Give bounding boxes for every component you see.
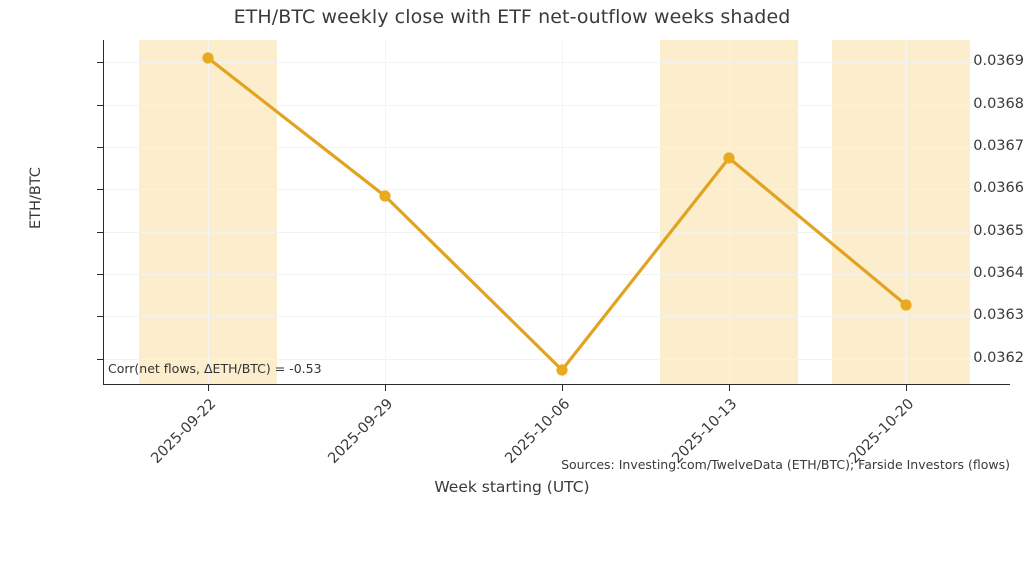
x-axis-tick [208, 385, 209, 391]
x-axis-tick [729, 385, 730, 391]
data-point-marker [556, 364, 567, 375]
y-axis-tick [97, 232, 103, 233]
x-axis-tick [906, 385, 907, 391]
correlation-annotation: Corr(net flows, ΔETH/BTC) = -0.53 [108, 361, 322, 376]
source-note: Sources: Investing.com/TwelveData (ETH/B… [0, 457, 1010, 472]
chart-title: ETH/BTC weekly close with ETF net-outflo… [0, 6, 1024, 28]
y-axis-spine [103, 40, 104, 385]
y-axis-tick-label: 0.0365 [932, 223, 1024, 239]
plot-area [103, 40, 1010, 384]
chart-figure: ETH/BTC weekly close with ETF net-outflo… [0, 0, 1024, 507]
y-axis-tick [97, 316, 103, 317]
y-axis-tick [97, 62, 103, 63]
data-point-marker [202, 52, 213, 63]
y-axis-tick [97, 189, 103, 190]
x-axis-tick [562, 385, 563, 391]
y-axis-tick-label: 0.0363 [932, 307, 1024, 323]
y-axis-tick-label: 0.0364 [932, 265, 1024, 281]
series-line-eth-btc [208, 58, 906, 370]
series-layer [103, 40, 1010, 384]
y-axis-tick [97, 147, 103, 148]
x-axis-tick [385, 385, 386, 391]
y-axis-tick-label: 0.0362 [932, 350, 1024, 366]
y-axis-tick-label: 0.0368 [932, 96, 1024, 112]
x-axis-title: Week starting (UTC) [0, 478, 1024, 496]
y-axis-tick-label: 0.0366 [932, 180, 1024, 196]
data-point-marker [379, 190, 390, 201]
data-point-marker [900, 299, 911, 310]
x-axis-spine [103, 384, 1010, 385]
y-axis-tick [97, 359, 103, 360]
data-point-marker [723, 152, 734, 163]
y-axis-tick [97, 274, 103, 275]
y-axis-tick [97, 105, 103, 106]
y-axis-tick-label: 0.0367 [932, 138, 1024, 154]
y-axis-title: ETH/BTC [28, 138, 44, 258]
y-axis-tick-label: 0.0369 [932, 53, 1024, 69]
